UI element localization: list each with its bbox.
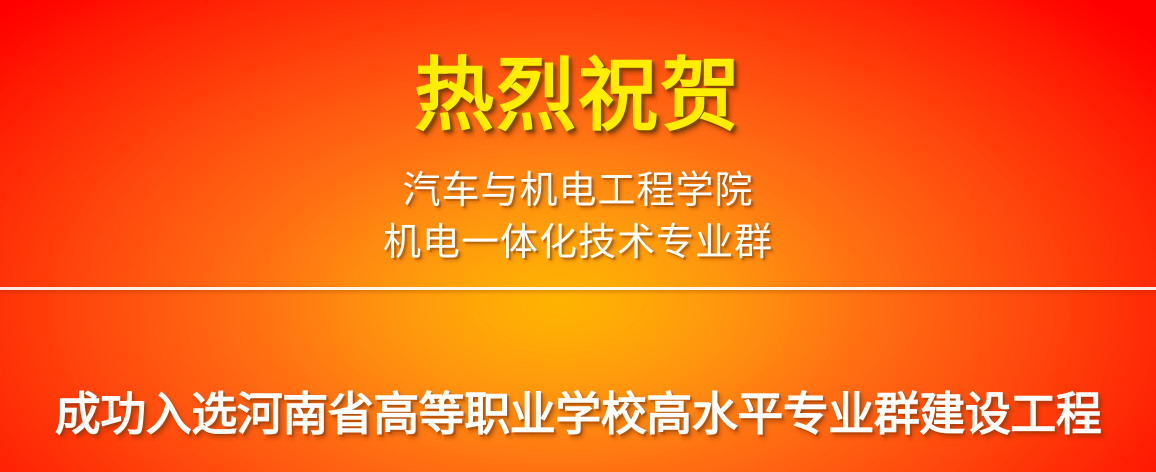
- banner-subtitle-line-2: 机电一体化技术专业群: [383, 223, 773, 261]
- banner-subtitle-line-1: 汽车与机电工程学院: [402, 171, 753, 209]
- banner-achievement-line: 成功入选河南省高等职业学校高水平专业群建设工程: [55, 391, 1102, 437]
- congratulation-banner: 热烈祝贺 汽车与机电工程学院 机电一体化技术专业群 成功入选河南省高等职业学校高…: [0, 0, 1156, 472]
- banner-headline: 热烈祝贺: [414, 56, 742, 136]
- banner-lower-section: 成功入选河南省高等职业学校高水平专业群建设工程: [0, 290, 1156, 472]
- banner-upper-section: 热烈祝贺 汽车与机电工程学院 机电一体化技术专业群: [0, 0, 1156, 289]
